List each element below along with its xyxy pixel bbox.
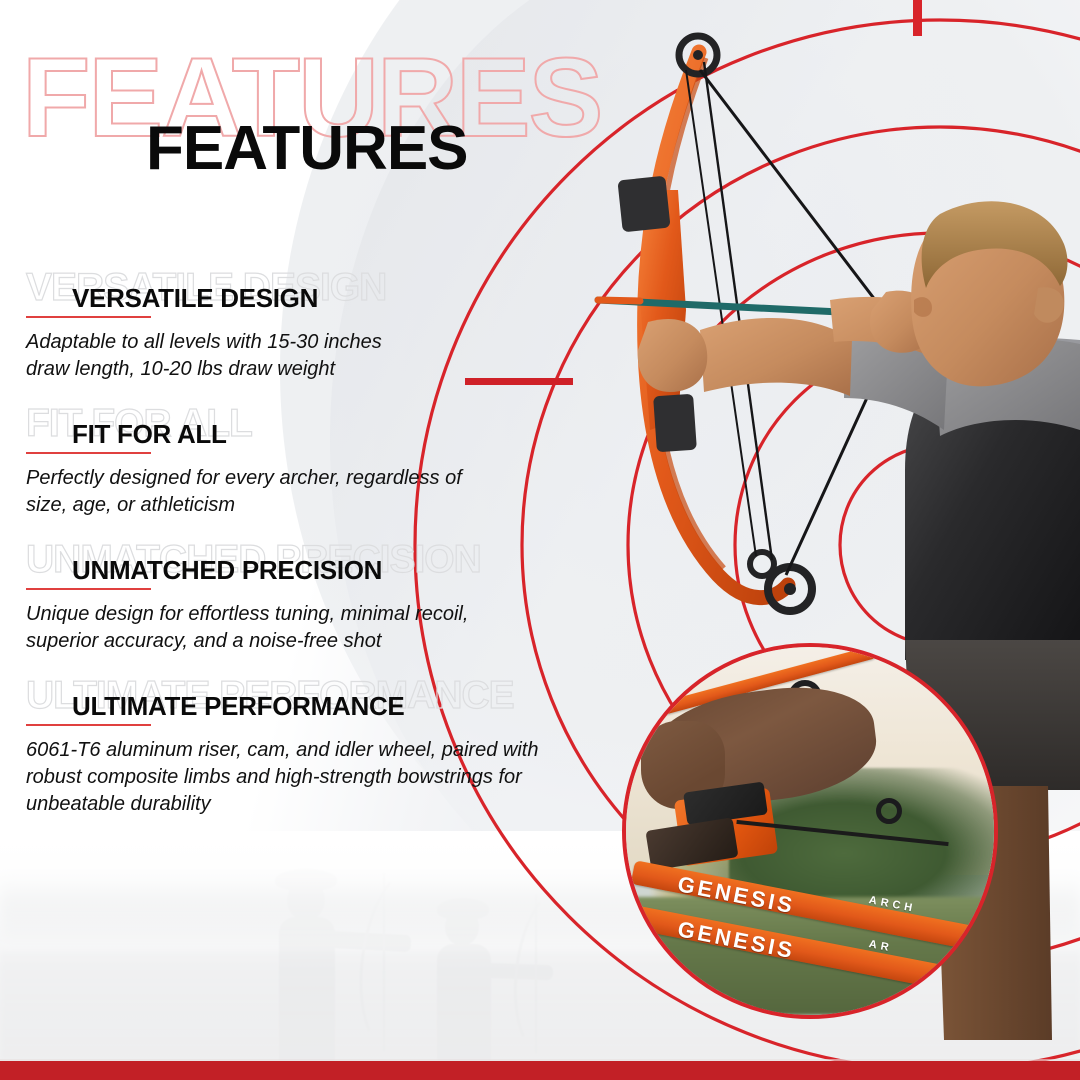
feature-body: Perfectly designed for every archer, reg… [0,465,490,519]
feature-heading-wrap: FIT FOR ALL FIT FOR ALL [0,404,640,452]
feature-body: Adaptable to all levels with 15-30 inche… [0,329,430,383]
feature-heading: UNMATCHED PRECISION [72,557,382,583]
feature-heading-wrap: UNMATCHED PRECISION UNMATCHED PRECISION [0,540,640,588]
feature-body: 6061-T6 aluminum riser, cam, and idler w… [0,737,580,818]
feature-underline [26,724,151,726]
feature-item: UNMATCHED PRECISION UNMATCHED PRECISION … [0,540,640,655]
feature-item: VERSATILE DESIGN VERSATILE DESIGN Adapta… [0,268,640,383]
feature-body: Unique design for effortless tuning, min… [0,601,520,655]
feature-list: VERSATILE DESIGN VERSATILE DESIGN Adapta… [0,268,640,839]
footer-bar [0,1061,1080,1080]
tick-top-marker [913,0,922,36]
feature-heading-wrap: VERSATILE DESIGN VERSATILE DESIGN [0,268,640,316]
feature-heading: FIT FOR ALL [72,421,227,447]
feature-underline [26,452,151,454]
feature-underline [26,588,151,590]
page-title: FEATURES [146,118,468,180]
product-detail-inset: GENESIS ARCH GENESIS AR [622,643,998,1019]
feature-item: ULTIMATE PERFORMANCE ULTIMATE PERFORMANC… [0,676,640,818]
feature-item: FIT FOR ALL FIT FOR ALL Perfectly design… [0,404,640,519]
feature-underline [26,316,151,318]
page-title-block: FEATURES FEATURES [0,0,640,230]
inset-lower-cam [876,798,902,824]
feature-heading-wrap: ULTIMATE PERFORMANCE ULTIMATE PERFORMANC… [0,676,640,724]
feature-heading: VERSATILE DESIGN [72,285,318,311]
infographic-canvas: GENESIS ARCH GENESIS AR FEATURES FEATURE… [0,0,1080,1080]
feature-heading: ULTIMATE PERFORMANCE [72,693,404,719]
